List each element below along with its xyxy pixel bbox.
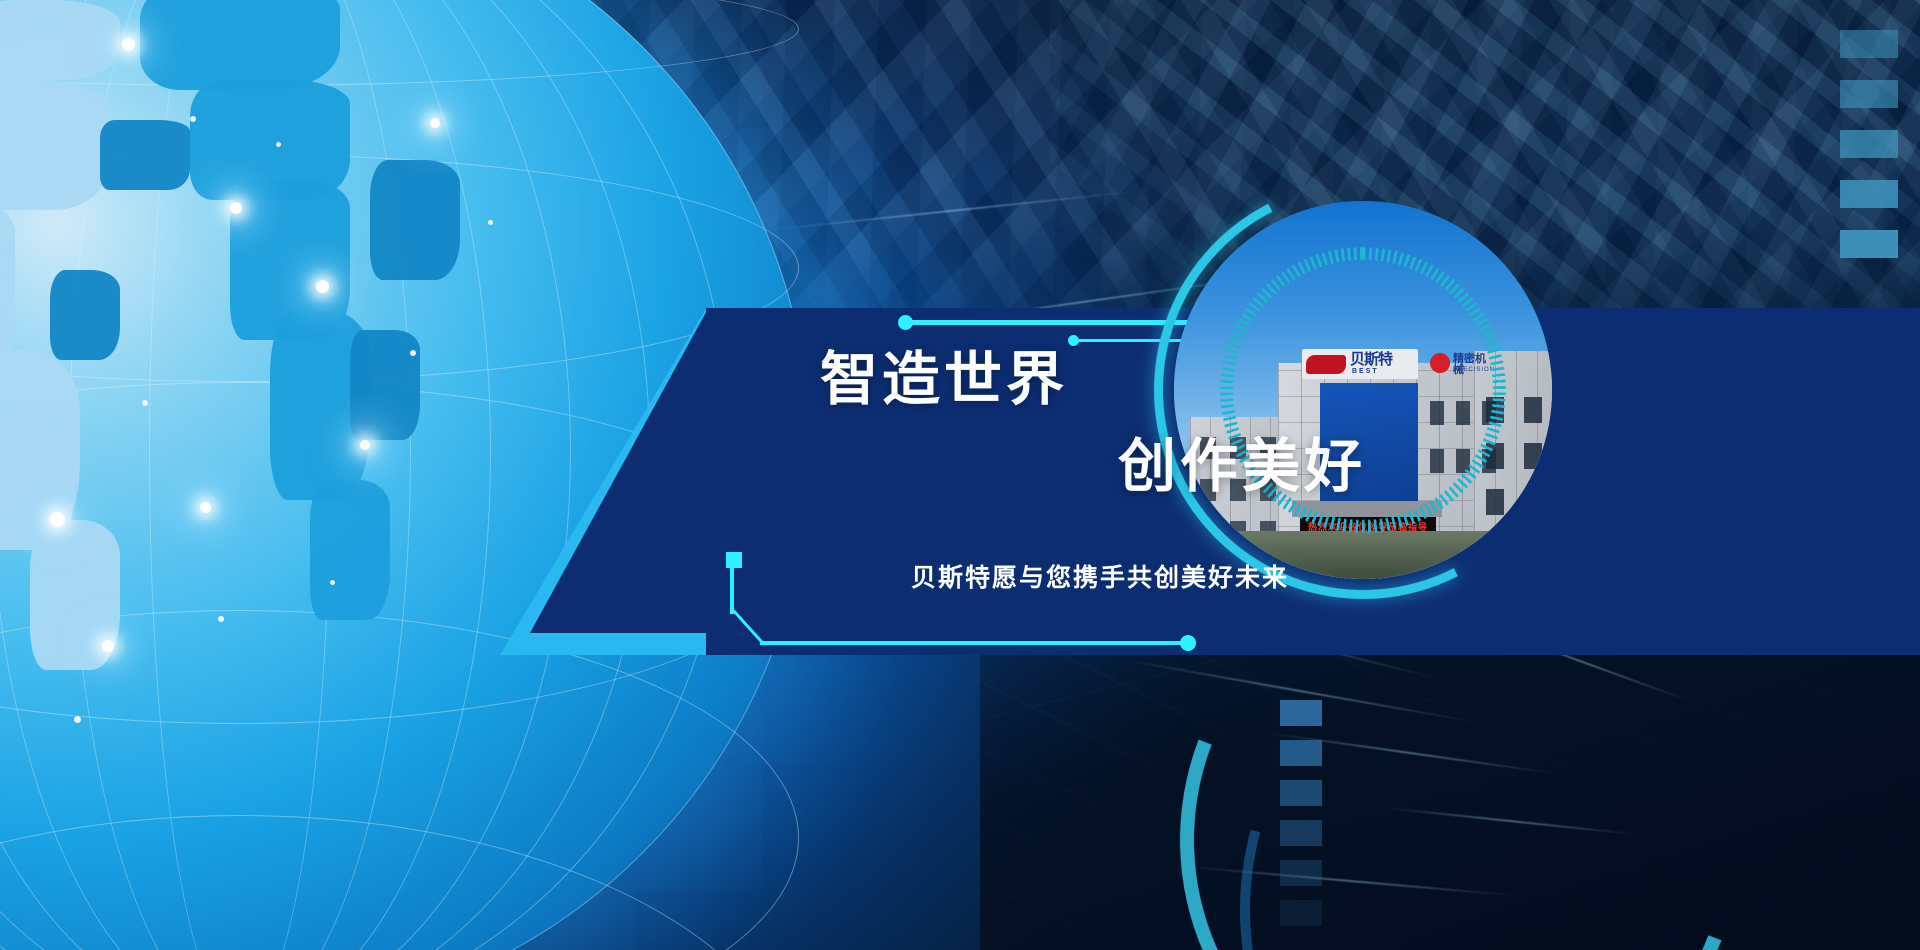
decor-bar [1840,180,1898,208]
decor-bar [1280,700,1322,726]
circuit-dot-top-1 [898,315,913,330]
decor-bar [1280,820,1322,846]
globe-node [330,580,335,585]
globe-landmass [310,480,390,620]
globe-landmass [350,330,420,440]
globe-landmass [100,120,190,190]
globe-node [50,512,65,527]
decor-bar [1840,230,1898,258]
globe-node [142,400,148,406]
hero-banner: 智造世界 创作美好 贝斯特愿与您携手共创美好未来 贝斯特 BEST 精密机械 P… [0,0,1920,950]
globe-node [488,220,493,225]
decor-bar [1840,130,1898,158]
globe-node [200,502,211,513]
decor-bars-top-right [1840,30,1898,280]
circuit-bracket-v [730,566,734,614]
decor-bar [1840,30,1898,58]
headline-line-1: 智造世界 [820,350,1380,409]
globe-landmass [0,80,110,210]
globe-node [360,440,370,450]
globe-node [230,202,242,214]
globe-node [430,118,440,128]
globe-node [276,142,281,147]
decor-bar [1840,80,1898,108]
decor-bar [1280,780,1322,806]
globe-node [190,116,196,122]
circuit-dot-bottom-right [1180,635,1196,651]
globe-node [122,38,135,51]
headline-line-2: 创作美好 [820,437,1380,496]
globe-landmass [140,0,340,90]
globe-node [218,616,224,622]
decor-bars-bottom-center [1280,700,1322,940]
globe-node [410,350,416,356]
globe-landmass [50,270,120,360]
decor-bar [1280,740,1322,766]
circuit-bracket-h [760,641,1188,645]
circuit-dot-top-2 [1068,335,1079,346]
decor-bar [1280,900,1322,926]
globe-node [74,716,81,723]
subtitle: 贝斯特愿与您携手共创美好未来 [820,558,1380,594]
page-title: 智造世界 创作美好 [820,350,1380,496]
circuit-square-bottom-left [726,552,742,568]
globe-node [316,280,329,293]
globe-node [102,640,114,652]
decor-bar [1280,860,1322,886]
globe-landmass [0,0,120,80]
globe-landmass [370,160,460,280]
